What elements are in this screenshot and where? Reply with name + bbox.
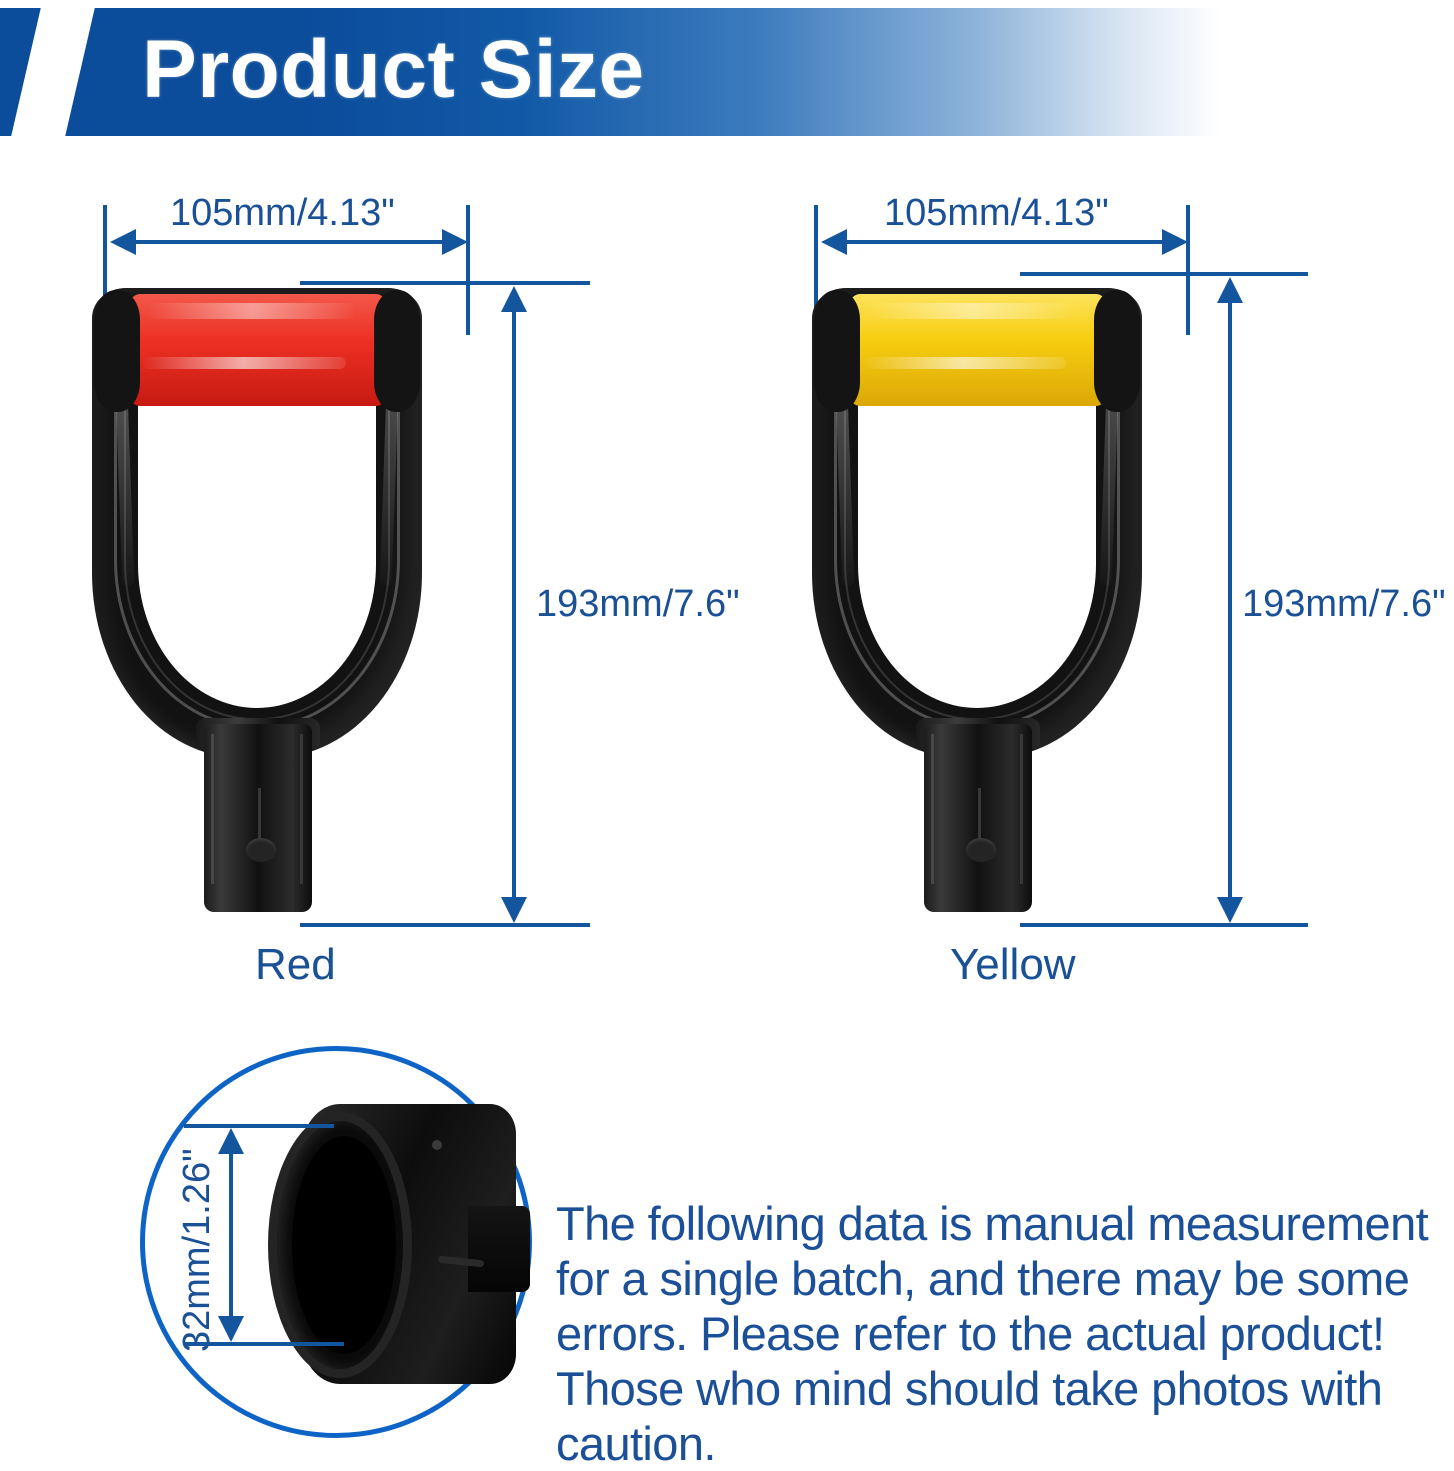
socket-tube bbox=[204, 724, 312, 912]
red-width-ext-right bbox=[466, 205, 470, 335]
yellow-height-ext-bottom bbox=[1020, 923, 1308, 927]
yellow-height-arrowhead-top bbox=[1217, 277, 1243, 303]
red-height-arrow-line bbox=[512, 290, 516, 918]
grip-cap-right bbox=[1094, 290, 1140, 412]
socket-nub bbox=[966, 838, 996, 862]
socket-edge-right bbox=[1020, 734, 1023, 884]
yellow-height-label: 193mm/7.6" bbox=[1242, 583, 1446, 626]
yellow-caption: Yellow bbox=[950, 940, 1076, 990]
yellow-width-arrow-line bbox=[826, 240, 1183, 244]
red-height-arrowhead-top bbox=[501, 286, 527, 312]
yellow-width-label: 105mm/4.13" bbox=[884, 192, 1109, 235]
red-width-arrow-line bbox=[115, 240, 463, 244]
page-title: Product Size bbox=[142, 8, 645, 136]
grip-sheen bbox=[142, 357, 346, 369]
yellow-height-arrow-line bbox=[1228, 281, 1232, 918]
inset-arrowhead-top bbox=[218, 1128, 244, 1154]
socket-edge-right bbox=[300, 734, 303, 884]
grip-top-highlight bbox=[148, 303, 358, 319]
inset-arrow-line bbox=[229, 1132, 233, 1338]
d-handle-yellow-icon bbox=[812, 266, 1142, 906]
grip-cap-left bbox=[94, 290, 140, 412]
disclaimer-text: The following data is manual measurement… bbox=[556, 1196, 1436, 1471]
inset-ext-top bbox=[184, 1124, 334, 1128]
yellow-height-arrowhead-bottom bbox=[1217, 897, 1243, 923]
red-width-label: 105mm/4.13" bbox=[170, 192, 395, 235]
red-height-ext-bottom bbox=[300, 923, 590, 927]
grip-cap-right bbox=[374, 290, 420, 412]
grip-cap-left bbox=[814, 290, 860, 412]
red-caption: Red bbox=[255, 940, 336, 990]
socket-tube-dimple bbox=[432, 1140, 442, 1150]
red-width-arrowhead-left bbox=[110, 229, 136, 255]
handle-grip-yellow bbox=[840, 294, 1116, 406]
inset-arrowhead-bottom bbox=[218, 1316, 244, 1342]
yellow-width-ext-right bbox=[1186, 205, 1190, 335]
yellow-width-arrowhead-right bbox=[1162, 229, 1188, 255]
grip-sheen bbox=[862, 357, 1066, 369]
inset-diameter-label: 32mm/1.26" bbox=[176, 1148, 219, 1352]
handle-grip-red bbox=[120, 294, 396, 406]
socket-tube-bore bbox=[292, 1136, 396, 1354]
red-width-arrowhead-right bbox=[442, 229, 468, 255]
socket-edge-left bbox=[211, 734, 214, 884]
socket-edge-left bbox=[931, 734, 934, 884]
grip-top-highlight bbox=[868, 303, 1078, 319]
socket-nub bbox=[246, 838, 276, 862]
d-handle-red-icon bbox=[92, 266, 422, 906]
socket-tube-tail bbox=[468, 1206, 530, 1292]
socket-tube bbox=[924, 724, 1032, 912]
red-height-label: 193mm/7.6" bbox=[536, 583, 740, 626]
red-height-arrowhead-bottom bbox=[501, 897, 527, 923]
yellow-width-arrowhead-left bbox=[821, 229, 847, 255]
